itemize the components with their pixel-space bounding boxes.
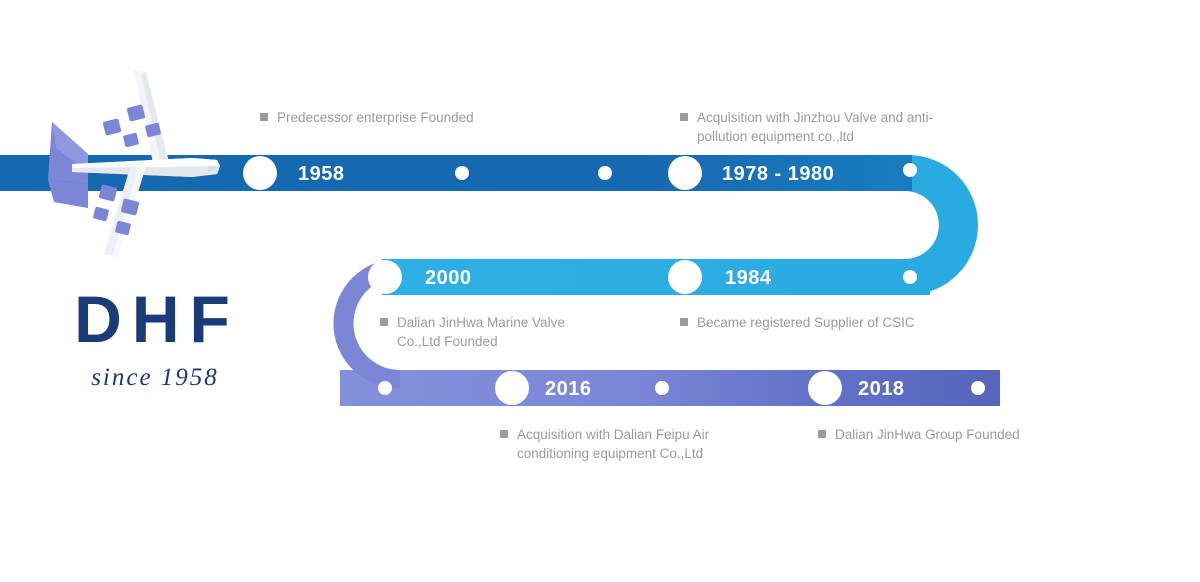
event-caption: Dalian JinHwa Group Founded (818, 425, 1020, 444)
timeline-dot (455, 166, 469, 180)
event-caption-line: conditioning equipment Co.,Ltd (500, 444, 709, 463)
year-label-2018: 2018 (858, 379, 905, 399)
bullet-square-icon (260, 113, 268, 121)
year-label-1958: 1958 (298, 164, 345, 184)
milestone-marker-1958[interactable] (243, 156, 277, 190)
milestone-marker-2000[interactable] (368, 260, 402, 294)
timeline-dot (598, 166, 612, 180)
event-caption: Became registered Supplier of CSIC (680, 313, 915, 332)
event-caption: Predecessor enterprise Founded (260, 108, 474, 127)
timeline-infographic: DHF since 1958 19581978 - 19802000198420… (0, 0, 1200, 582)
event-caption: Dalian JinHwa Marine ValveCo.,Ltd Founde… (380, 313, 565, 351)
bullet-square-icon (380, 318, 388, 326)
brand-tagline: since 1958 (42, 364, 268, 392)
event-caption-line: pollution equipment co.,ltd (680, 127, 933, 146)
milestone-marker-2016[interactable] (495, 371, 529, 405)
year-label-2000: 2000 (425, 268, 472, 288)
year-label-19781980: 1978 - 1980 (722, 164, 834, 184)
year-label-1984: 1984 (725, 268, 772, 288)
event-caption-line: Co.,Ltd Founded (380, 332, 565, 351)
timeline-dot (903, 163, 917, 177)
bullet-square-icon (680, 113, 688, 121)
brand-name: DHF (46, 286, 268, 352)
event-caption: Acquisition with Jinzhou Valve and anti-… (680, 108, 933, 146)
bullet-square-icon (680, 318, 688, 326)
brand-logo: DHF since 1958 (38, 286, 268, 392)
event-caption: Acquisition with Dalian Feipu Airconditi… (500, 425, 709, 463)
timeline-dot (903, 270, 917, 284)
bullet-square-icon (500, 430, 508, 438)
milestone-marker-1984[interactable] (668, 260, 702, 294)
timeline-dot (971, 381, 985, 395)
timeline-dot (378, 381, 392, 395)
timeline-dot (655, 381, 669, 395)
bullet-square-icon (818, 430, 826, 438)
milestone-marker-1978[interactable] (668, 156, 702, 190)
milestone-marker-2018[interactable] (808, 371, 842, 405)
year-label-2016: 2016 (545, 379, 592, 399)
